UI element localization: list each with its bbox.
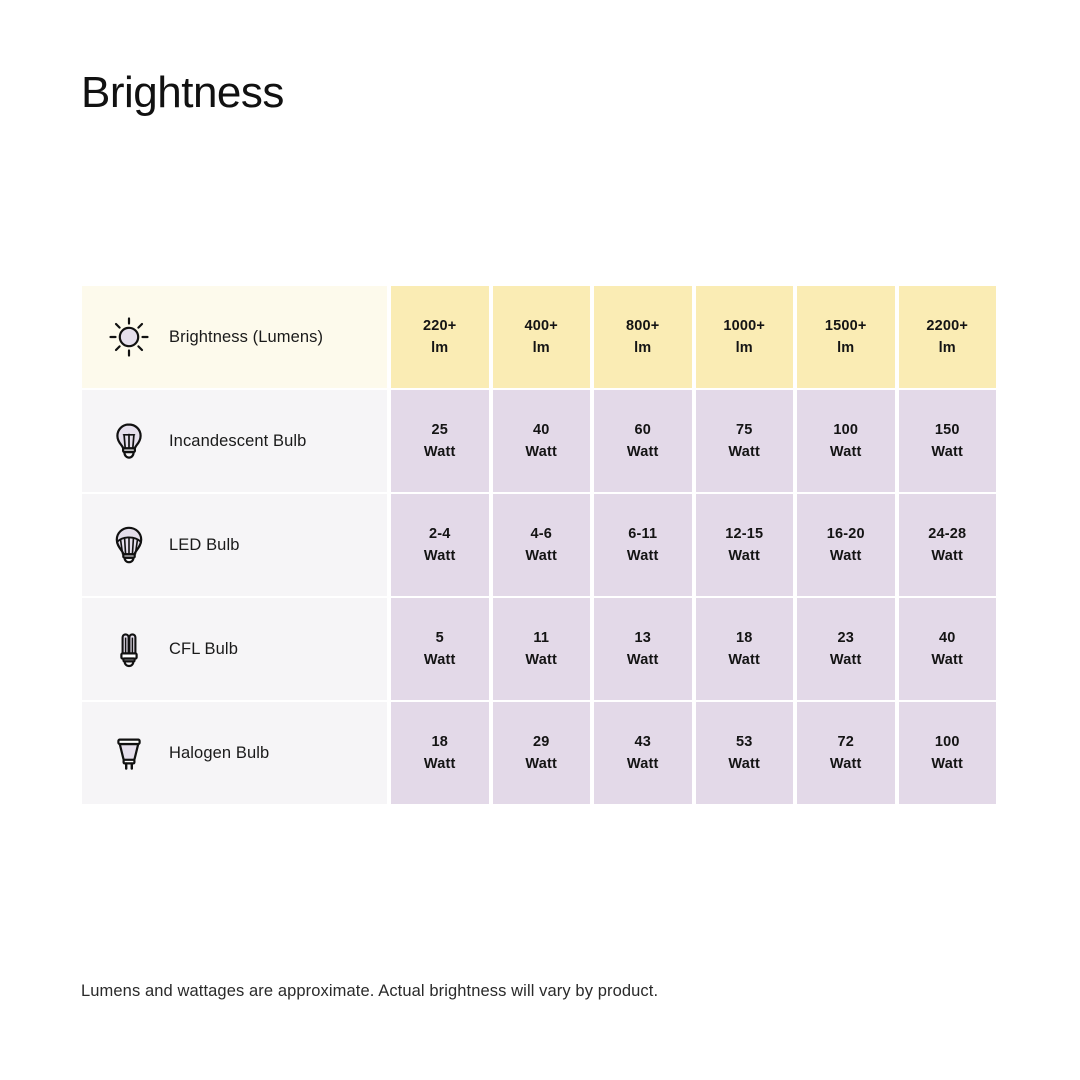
column-gap bbox=[387, 494, 389, 596]
data-cell: 5 Watt bbox=[391, 598, 489, 700]
cell-value: 18 bbox=[431, 735, 448, 750]
header-cell-5: 1500+ lm bbox=[797, 286, 895, 388]
table-row: CFL Bulb 5 Watt 11 Watt 13 Watt 18 Watt … bbox=[82, 598, 998, 700]
data-cell: 43 Watt bbox=[594, 702, 692, 804]
data-cell: 13 Watt bbox=[594, 598, 692, 700]
cell-unit: Watt bbox=[830, 549, 862, 564]
header-unit: lm bbox=[533, 341, 550, 356]
cell-value: 100 bbox=[935, 735, 960, 750]
header-unit: lm bbox=[736, 341, 753, 356]
cell-value: 24-28 bbox=[928, 527, 966, 542]
data-cell: 23 Watt bbox=[797, 598, 895, 700]
data-cell: 100 Watt bbox=[797, 390, 895, 492]
data-cell: 40 Watt bbox=[493, 390, 591, 492]
halogen-bulb-icon bbox=[105, 729, 153, 777]
data-cell: 18 Watt bbox=[696, 598, 794, 700]
table-header-row: Brightness (Lumens) 220+ lm 400+ lm 800+… bbox=[82, 286, 998, 388]
cell-unit: Watt bbox=[830, 653, 862, 668]
cell-unit: Watt bbox=[424, 445, 456, 460]
cell-value: 29 bbox=[533, 735, 550, 750]
header-cell-3: 800+ lm bbox=[594, 286, 692, 388]
column-gap bbox=[387, 390, 389, 492]
cell-value: 16-20 bbox=[827, 527, 865, 542]
incandescent-bulb-icon bbox=[105, 417, 153, 465]
cell-unit: Watt bbox=[830, 757, 862, 772]
data-cell: 2-4 Watt bbox=[391, 494, 489, 596]
data-cell: 29 Watt bbox=[493, 702, 591, 804]
cell-value: 23 bbox=[837, 631, 854, 646]
row-label-text: LED Bulb bbox=[169, 536, 240, 555]
cell-value: 18 bbox=[736, 631, 753, 646]
cell-unit: Watt bbox=[627, 549, 659, 564]
data-cell: 4-6 Watt bbox=[493, 494, 591, 596]
cell-value: 2-4 bbox=[429, 527, 451, 542]
header-cell-4: 1000+ lm bbox=[696, 286, 794, 388]
row-label-cell-cfl: CFL Bulb bbox=[82, 598, 387, 700]
cell-unit: Watt bbox=[424, 549, 456, 564]
header-unit: lm bbox=[939, 341, 956, 356]
brightness-comparison-table: Brightness (Lumens) 220+ lm 400+ lm 800+… bbox=[82, 286, 998, 804]
cell-unit: Watt bbox=[830, 445, 862, 460]
cell-value: 43 bbox=[634, 735, 651, 750]
data-cell: 53 Watt bbox=[696, 702, 794, 804]
cell-value: 75 bbox=[736, 423, 753, 438]
column-gap bbox=[387, 598, 389, 700]
cell-value: 12-15 bbox=[725, 527, 763, 542]
cell-value: 40 bbox=[533, 423, 550, 438]
table-row: Halogen Bulb 18 Watt 29 Watt 43 Watt 53 … bbox=[82, 702, 998, 804]
cell-value: 100 bbox=[833, 423, 858, 438]
cell-value: 13 bbox=[634, 631, 651, 646]
row-label-cell-halogen: Halogen Bulb bbox=[82, 702, 387, 804]
cell-unit: Watt bbox=[728, 653, 760, 668]
cell-value: 40 bbox=[939, 631, 956, 646]
data-cell: 25 Watt bbox=[391, 390, 489, 492]
column-gap bbox=[387, 702, 389, 804]
header-cell-1: 220+ lm bbox=[391, 286, 489, 388]
data-cell: 24-28 Watt bbox=[899, 494, 997, 596]
cfl-bulb-icon bbox=[105, 625, 153, 673]
led-bulb-icon bbox=[105, 521, 153, 569]
cell-value: 4-6 bbox=[530, 527, 552, 542]
header-unit: lm bbox=[634, 341, 651, 356]
data-cell: 16-20 Watt bbox=[797, 494, 895, 596]
footnote-text: Lumens and wattages are approximate. Act… bbox=[81, 982, 658, 1001]
cell-unit: Watt bbox=[525, 445, 557, 460]
page-title: Brightness bbox=[81, 69, 284, 117]
data-cell: 100 Watt bbox=[899, 702, 997, 804]
header-cell-6: 2200+ lm bbox=[899, 286, 997, 388]
header-value: 1000+ bbox=[723, 319, 765, 334]
header-cell-2: 400+ lm bbox=[493, 286, 591, 388]
sun-icon bbox=[105, 313, 153, 361]
header-unit: lm bbox=[431, 341, 448, 356]
cell-unit: Watt bbox=[627, 445, 659, 460]
cell-unit: Watt bbox=[931, 653, 963, 668]
cell-unit: Watt bbox=[931, 549, 963, 564]
data-cell: 40 Watt bbox=[899, 598, 997, 700]
cell-value: 11 bbox=[533, 631, 549, 646]
cell-value: 72 bbox=[837, 735, 854, 750]
cell-value: 150 bbox=[935, 423, 960, 438]
cell-unit: Watt bbox=[525, 653, 557, 668]
data-cell: 150 Watt bbox=[899, 390, 997, 492]
row-label-text: CFL Bulb bbox=[169, 640, 238, 659]
cell-unit: Watt bbox=[627, 757, 659, 772]
data-cell: 72 Watt bbox=[797, 702, 895, 804]
row-label-text: Incandescent Bulb bbox=[169, 432, 306, 451]
cell-unit: Watt bbox=[424, 757, 456, 772]
cell-unit: Watt bbox=[931, 757, 963, 772]
data-cell: 18 Watt bbox=[391, 702, 489, 804]
data-cell: 75 Watt bbox=[696, 390, 794, 492]
header-label-cell: Brightness (Lumens) bbox=[82, 286, 387, 388]
header-unit: lm bbox=[837, 341, 854, 356]
cell-value: 5 bbox=[436, 631, 444, 646]
cell-unit: Watt bbox=[728, 757, 760, 772]
cell-unit: Watt bbox=[728, 549, 760, 564]
cell-value: 60 bbox=[634, 423, 651, 438]
cell-unit: Watt bbox=[728, 445, 760, 460]
cell-unit: Watt bbox=[424, 653, 456, 668]
table-row: Incandescent Bulb 25 Watt 40 Watt 60 Wat… bbox=[82, 390, 998, 492]
cell-unit: Watt bbox=[525, 549, 557, 564]
row-label-cell-led: LED Bulb bbox=[82, 494, 387, 596]
header-label-text: Brightness (Lumens) bbox=[169, 328, 323, 347]
infographic-page: Brightness bbox=[0, 0, 1080, 1080]
header-value: 2200+ bbox=[926, 319, 968, 334]
cell-unit: Watt bbox=[525, 757, 557, 772]
cell-value: 25 bbox=[431, 423, 448, 438]
data-cell: 11 Watt bbox=[493, 598, 591, 700]
row-label-text: Halogen Bulb bbox=[169, 744, 269, 763]
cell-unit: Watt bbox=[931, 445, 963, 460]
column-gap bbox=[387, 286, 389, 388]
table-row: LED Bulb 2-4 Watt 4-6 Watt 6-11 Watt 12-… bbox=[82, 494, 998, 596]
header-value: 800+ bbox=[626, 319, 659, 334]
data-cell: 60 Watt bbox=[594, 390, 692, 492]
cell-value: 53 bbox=[736, 735, 753, 750]
data-cell: 6-11 Watt bbox=[594, 494, 692, 596]
header-value: 400+ bbox=[525, 319, 558, 334]
row-label-cell-incandescent: Incandescent Bulb bbox=[82, 390, 387, 492]
header-value: 1500+ bbox=[825, 319, 867, 334]
data-cell: 12-15 Watt bbox=[696, 494, 794, 596]
cell-value: 6-11 bbox=[628, 527, 657, 542]
cell-unit: Watt bbox=[627, 653, 659, 668]
header-value: 220+ bbox=[423, 319, 456, 334]
